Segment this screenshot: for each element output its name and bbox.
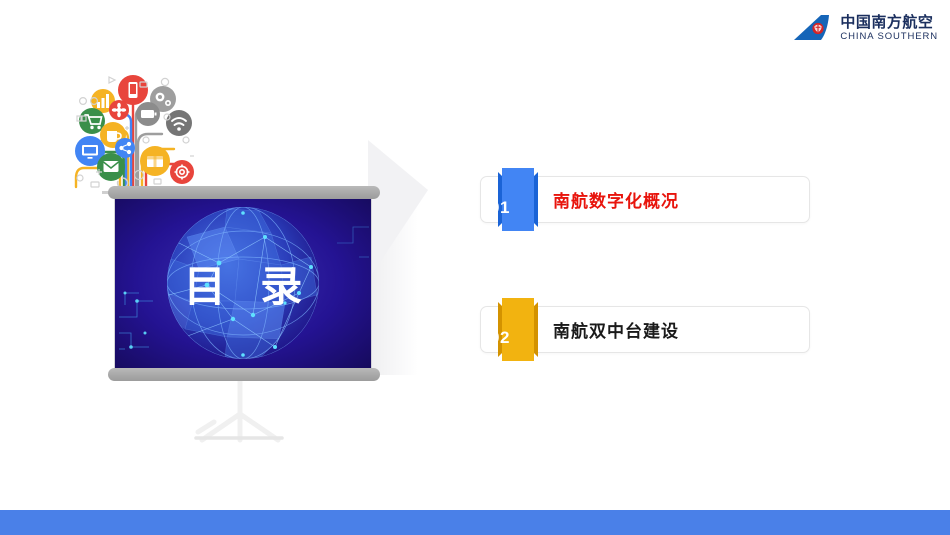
agenda-label: 南航双中台建设 — [553, 306, 679, 353]
brand-name-en: CHINA SOUTHERN — [840, 32, 938, 42]
agenda-number: 02 — [480, 306, 520, 369]
agenda-item-02[interactable]: 02 南航双中台建设 — [480, 306, 812, 354]
screen-title: 目 录 — [115, 197, 371, 369]
presentation-slide: 中国南方航空 CHINA SOUTHERN — [0, 0, 950, 535]
screen-roller-top — [108, 186, 380, 199]
brand-wordmark: 中国南方航空 CHINA SOUTHERN — [840, 15, 938, 42]
agenda-label: 南航数字化概况 — [553, 176, 679, 223]
agenda-item-01[interactable]: 01 南航数字化概况 — [480, 176, 812, 224]
projector-beam-icon — [368, 140, 428, 280]
screen-roller-bottom — [108, 368, 380, 381]
agenda-number: 01 — [480, 176, 520, 239]
brand-logo: 中国南方航空 CHINA SOUTHERN — [791, 13, 938, 43]
brand-name-cn: 中国南方航空 — [840, 15, 938, 30]
screen-canvas: 目 录 — [114, 196, 372, 370]
digital-icon-tree-icon — [62, 44, 204, 194]
china-southern-tailfin-icon — [791, 13, 833, 43]
agenda-list: 01 南航数字化概况 02 南航双中台建设 — [480, 176, 812, 436]
footer-accent-bar — [0, 510, 950, 535]
tripod-stand-icon — [180, 370, 300, 450]
